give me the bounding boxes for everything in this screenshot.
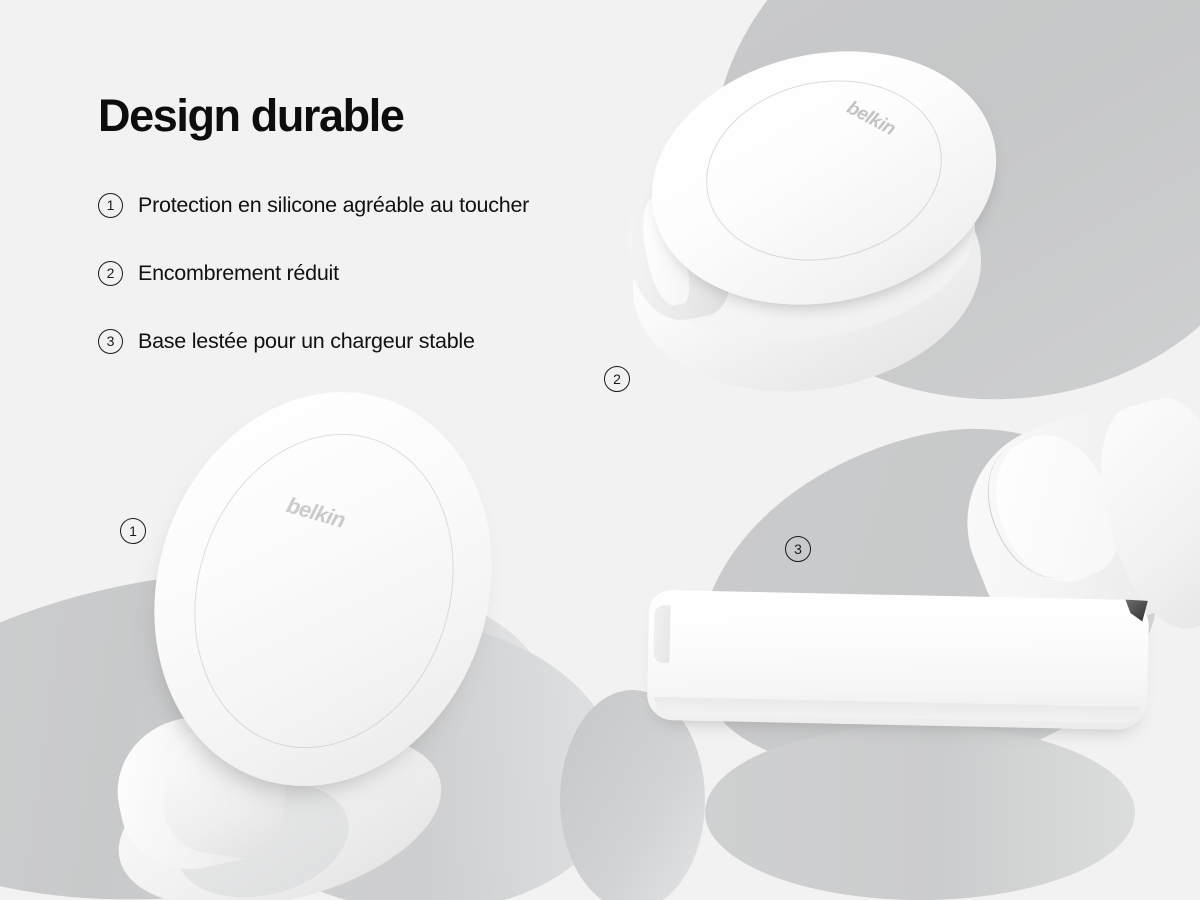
product-photo-folded-charger [610, 40, 1040, 400]
charger-base-notch [653, 605, 670, 663]
callout-badge-1: 1 [120, 518, 146, 544]
feature-number-badge-3: 3 [98, 329, 123, 354]
product-feature-slide: belkin belkin Design durable 1 Protectio… [0, 0, 1200, 900]
callout-badge-2: 2 [604, 366, 630, 392]
page-title: Design durable [98, 93, 403, 138]
feature-label-3: Base lestée pour un chargeur stable [138, 329, 475, 354]
feature-number-badge-1: 1 [98, 193, 123, 218]
feature-label-2: Encombrement réduit [138, 261, 339, 286]
feature-item-1: 1 Protection en silicone agréable au tou… [98, 190, 658, 220]
product-photo-base-profile [640, 430, 1200, 760]
callout-badge-3: 3 [785, 536, 811, 562]
feature-item-2: 2 Encombrement réduit [98, 258, 658, 288]
feature-list: 1 Protection en silicone agréable au tou… [98, 190, 658, 394]
feature-number-badge-2: 2 [98, 261, 123, 286]
feature-label-1: Protection en silicone agréable au touch… [138, 193, 529, 218]
product-photo-tilted-pad [70, 385, 540, 900]
feature-item-3: 3 Base lestée pour un chargeur stable [98, 326, 658, 356]
